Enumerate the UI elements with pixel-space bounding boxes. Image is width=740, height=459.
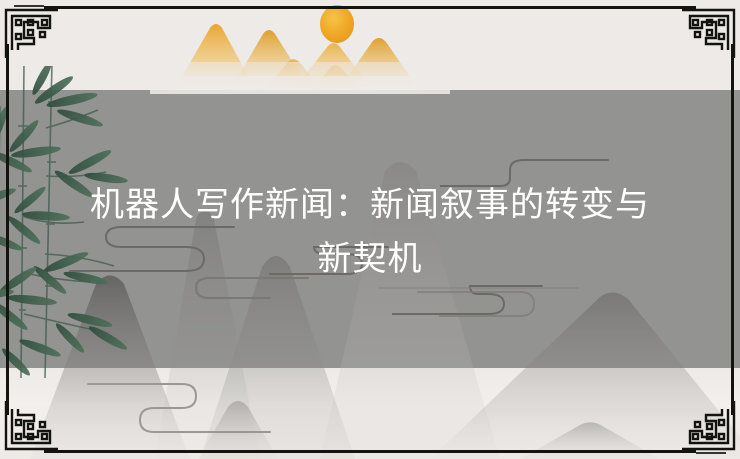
meander-corner-bottom-left-icon — [4, 399, 60, 455]
frame-line-bottom — [44, 450, 696, 453]
title-line-2: 新契机 — [46, 232, 694, 286]
title-card: 机器人写作新闻：新闻叙事的转变与 新契机 — [0, 0, 740, 459]
frame-line-top — [44, 6, 696, 9]
title-line-1: 机器人写作新闻：新闻叙事的转变与 — [46, 178, 694, 232]
sun-shape — [320, 5, 354, 43]
page-title: 机器人写作新闻：新闻叙事的转变与 新契机 — [46, 178, 694, 286]
sunrise-illustration — [150, 2, 450, 94]
meander-corner-top-left-icon — [4, 4, 60, 60]
frame-line-right — [731, 44, 734, 415]
frame-line-left — [6, 44, 9, 415]
meander-corner-bottom-right-icon — [680, 399, 736, 455]
meander-corner-top-right-icon — [680, 4, 736, 60]
cloud-scroll-bottom-right — [400, 286, 630, 346]
cloud-scroll-bottom-left — [46, 368, 346, 458]
